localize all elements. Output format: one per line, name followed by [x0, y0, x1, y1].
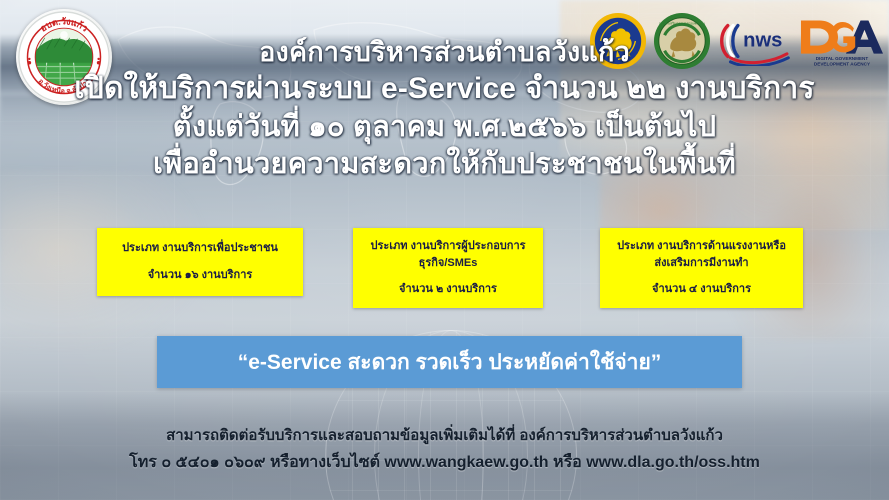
slogan-text: “e-Service สะดวก รวดเร็ว ประหยัดค่าใช้จ่…: [238, 346, 662, 379]
category-count: จำนวน ๔ งานบริการ: [652, 282, 751, 297]
category-title: ประเภท งานบริการผู้ประกอบการ: [370, 239, 525, 254]
category-count: จำนวน ๒ งานบริการ: [399, 282, 497, 297]
category-title-second-line: ส่งเสริมการมีงานทำ: [654, 256, 748, 271]
category-title: ประเภท งานบริการเพื่อประชาชน: [122, 241, 278, 256]
category-box-labor-employment-services: ประเภท งานบริการด้านแรงงานหรือ ส่งเสริมก…: [600, 228, 803, 308]
category-title-second-line: ธุรกิจ/SMEs: [419, 256, 478, 271]
heading-start-date: ตั้งแต่วันที่ ๑๐ ตุลาคม พ.ศ.๒๕๖๖ เป็นต้น…: [0, 112, 889, 143]
category-title: ประเภท งานบริการด้านแรงงานหรือ: [617, 239, 786, 254]
contact-footer: สามารถติดต่อรับบริการและสอบถามข้อมูลเพิ่…: [0, 425, 889, 474]
footer-phone-website-line: โทร ๐ ๕๔๐๑ ๐๖๐๙ หรือทางเว็บไซต์ www.wang…: [0, 451, 889, 474]
heading-organization-name: องค์การบริหารส่วนตำบลวังแก้ว: [0, 38, 889, 67]
poster-headings: องค์การบริหารส่วนตำบลวังแก้ว เปิดให้บริก…: [0, 38, 889, 180]
category-box-citizen-services: ประเภท งานบริการเพื่อประชาชน จำนวน ๑๖ งา…: [97, 228, 303, 296]
e-service-announcement-poster: อบต.วังแก้ว อ.วังเหนือ จ.ลำปาง: [0, 0, 889, 500]
slogan-banner: “e-Service สะดวก รวดเร็ว ประหยัดค่าใช้จ่…: [157, 336, 742, 388]
heading-purpose: เพื่ออำนวยความสะดวกให้กับประชาชนในพื้นที…: [0, 149, 889, 180]
heading-eservice-count: เปิดให้บริการผ่านระบบ e-Service จำนวน ๒๒…: [0, 73, 889, 105]
svg-text:กรมส่งเสริมการปกครองท้องถิ่น: กรมส่งเสริมการปกครองท้องถิ่น: [659, 21, 706, 26]
category-box-business-sme-services: ประเภท งานบริการผู้ประกอบการ ธุรกิจ/SMEs…: [353, 228, 543, 308]
footer-contact-line: สามารถติดต่อรับบริการและสอบถามข้อมูลเพิ่…: [0, 425, 889, 447]
category-count: จำนวน ๑๖ งานบริการ: [148, 268, 253, 283]
